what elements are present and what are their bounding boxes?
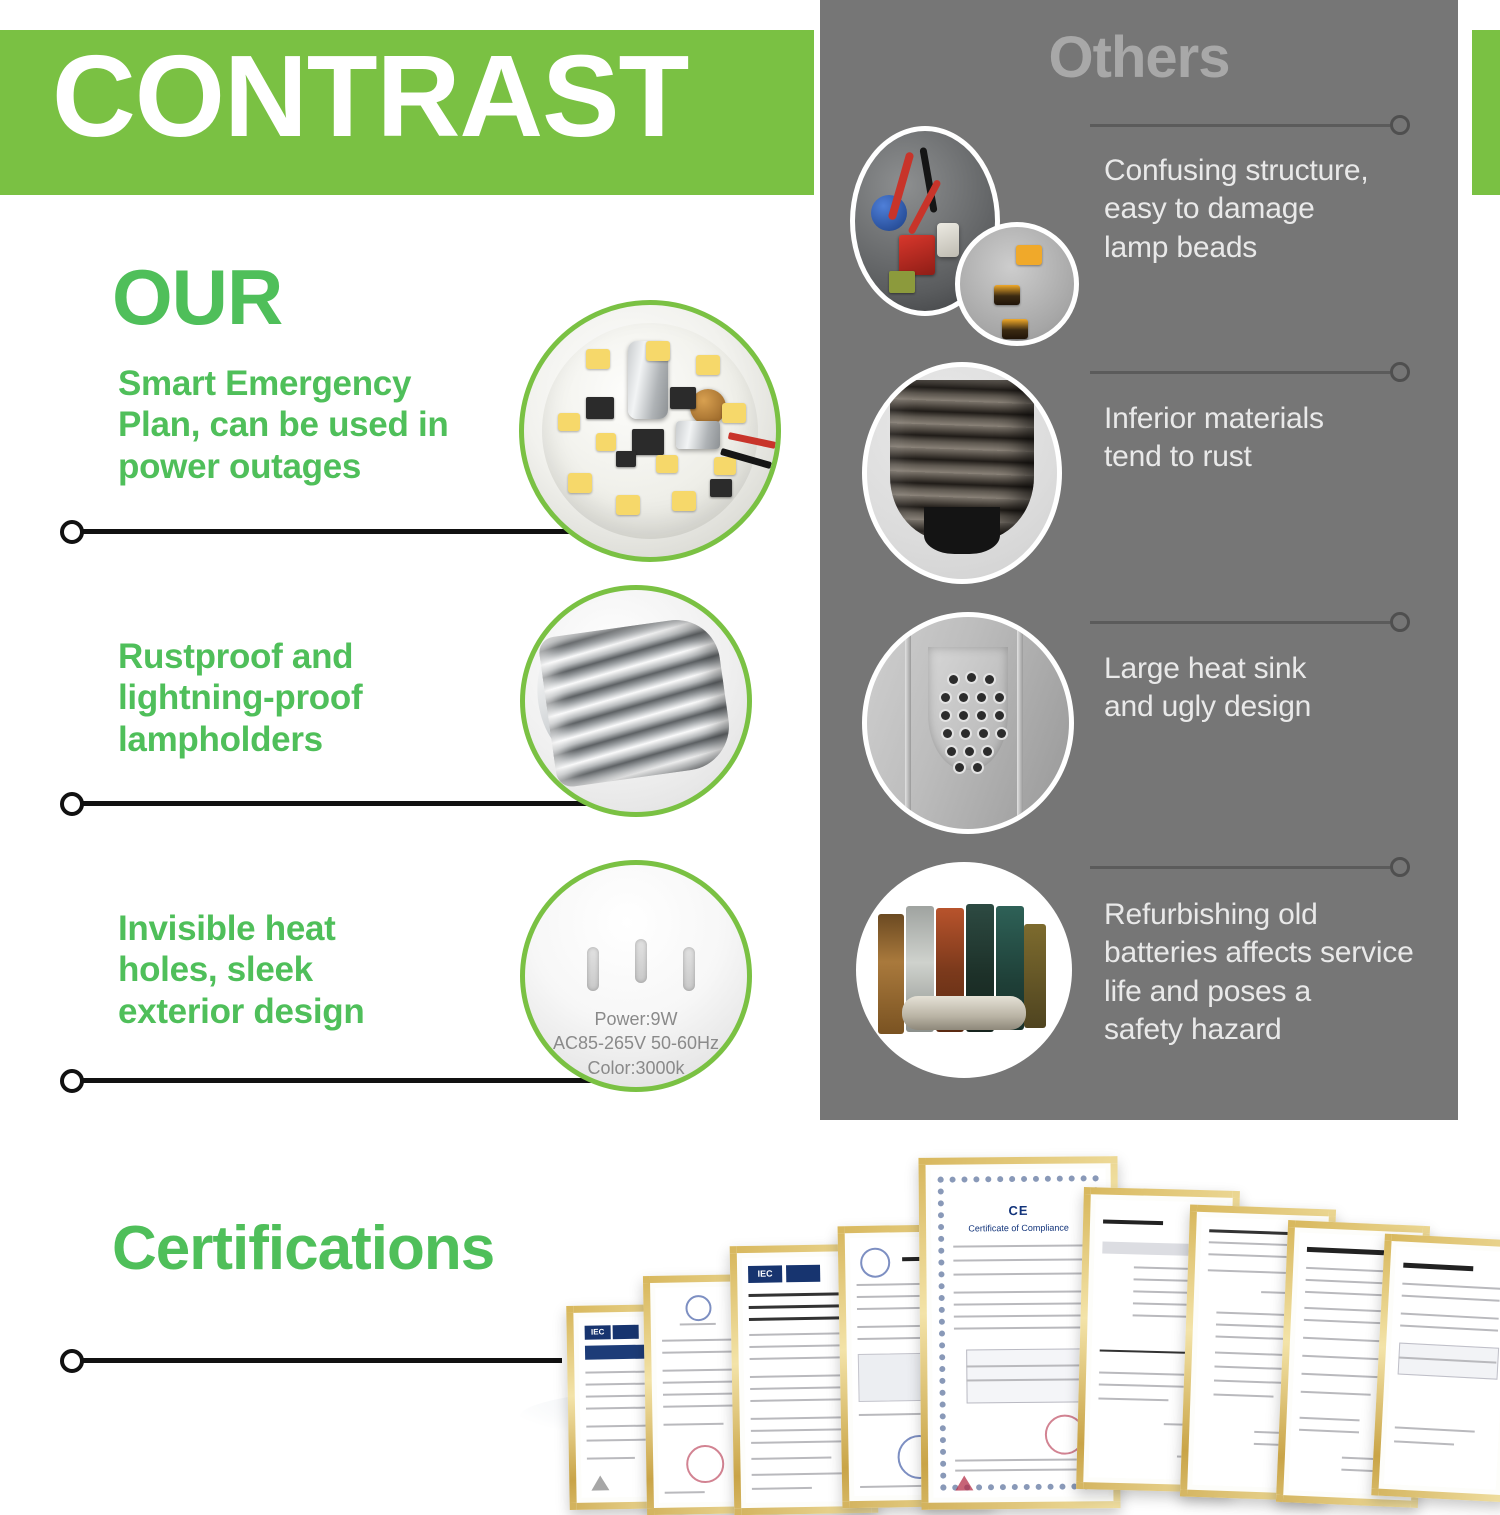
others-item-2: Inferior materials tend to rust: [1104, 400, 1444, 477]
led-bead-9: [558, 413, 580, 431]
heat-slot-2: [635, 939, 647, 983]
green-component: [889, 271, 915, 293]
feature-item-3: Invisible heat holes, sleek exterior des…: [118, 908, 518, 1032]
vent-hole: [983, 747, 992, 756]
battery-6: [1024, 924, 1046, 1028]
others-connector-3: [1090, 621, 1390, 624]
others-4-text: Refurbishing old batteries affects servi…: [1104, 896, 1454, 1050]
certifications-title: Certifications: [112, 1218, 494, 1280]
led-bead-11: [656, 455, 678, 473]
others-item-3: Large heat sink and ugly design: [1104, 650, 1444, 727]
heatsink-rib-2: [1017, 627, 1023, 827]
smd-component: [676, 421, 720, 449]
battery-1: [878, 914, 904, 1034]
rusted-base-tip: [924, 507, 1000, 554]
vent-hole: [959, 693, 968, 702]
driver-chip-1: [586, 397, 614, 419]
old-corroded-batteries-photo: [856, 862, 1072, 1078]
driver-chip-3: [670, 387, 696, 409]
others-item-1: Confusing structure, easy to damage lamp…: [1104, 152, 1444, 267]
page-title: CONTRAST: [52, 38, 688, 154]
chrome-lampholder-photo: [520, 585, 752, 817]
others-connector-dot-1: [1390, 115, 1410, 135]
others-1-text: Confusing structure, easy to damage lamp…: [1104, 152, 1444, 267]
ce-doc-title: Certificate of Compliance: [968, 1223, 1069, 1234]
ce-mark-icon: CE: [1008, 1203, 1028, 1218]
lamp-bead-1: [1016, 245, 1042, 265]
bulb-spec-text: Power:9W AC85-265V 50-60Hz Color:3000k: [525, 1007, 747, 1080]
certificates-stage: IEC: [520, 1125, 1420, 1455]
battery-laying-down: [902, 996, 1026, 1030]
connector-dot-2: [60, 792, 84, 816]
feature-item-1: Smart Emergency Plan, can be used in pow…: [118, 363, 538, 487]
vent-hole: [973, 763, 982, 772]
others-connector-dot-4: [1390, 857, 1410, 877]
others-connector-1: [1090, 124, 1390, 127]
rusted-lamp-base-photo: [862, 362, 1062, 584]
feature-2-text: Rustproof and lightning-proof lampholder…: [118, 636, 518, 760]
header-accent-bar: [1472, 30, 1500, 195]
others-connector-dot-2: [1390, 362, 1410, 382]
lamp-bead-3-burnt: [1002, 319, 1028, 339]
heat-slot-3: [683, 947, 695, 991]
white-connector: [937, 223, 959, 257]
led-bead-10: [596, 433, 616, 451]
others-connector-dot-3: [1390, 612, 1410, 632]
led-bead-4: [722, 403, 746, 423]
feature-1-text: Smart Emergency Plan, can be used in pow…: [118, 363, 538, 487]
led-bead-8: [568, 473, 592, 493]
agency-logo-icon: [860, 1247, 891, 1278]
driver-chip-2: [632, 429, 664, 455]
feature-3-text: Invisible heat holes, sleek exterior des…: [118, 908, 518, 1032]
driver-chip-4: [616, 451, 636, 467]
ait-logo-icon: [955, 1475, 973, 1490]
infographic-root: CONTRAST OUR Smart Emergency Plan, can b…: [0, 0, 1500, 1454]
connector-line-certifications: [82, 1358, 562, 1363]
iecee-logo-icon: [613, 1325, 639, 1339]
iec-logo-icon: IEC: [585, 1325, 611, 1339]
vent-hole: [995, 693, 1004, 702]
damaged-lamp-beads-photo: [955, 222, 1079, 346]
lamp-bead-2-burnt: [994, 285, 1020, 305]
vent-hole: [955, 763, 964, 772]
lampholder-threads: [538, 614, 735, 788]
led-bead-1: [586, 349, 610, 369]
iecee-logo-icon: [786, 1265, 820, 1283]
others-connector-2: [1090, 371, 1390, 374]
red-capacitor: [899, 235, 935, 275]
vent-hole: [941, 693, 950, 702]
vent-hole: [947, 747, 956, 756]
red-seal-stamp: [686, 1445, 725, 1484]
large-heat-sink-photo: [862, 612, 1074, 834]
vent-hole: [985, 675, 994, 684]
others-item-4: Refurbishing old batteries affects servi…: [1104, 896, 1454, 1050]
bulb-heat-holes-photo: Power:9W AC85-265V 50-60Hz Color:3000k: [520, 860, 752, 1092]
others-connector-4: [1090, 866, 1390, 869]
our-section-label: OUR: [112, 258, 282, 336]
connector-dot-3: [60, 1069, 84, 1093]
heatsink-rib-1: [905, 627, 911, 827]
vent-hole: [941, 711, 950, 720]
vent-hole: [979, 729, 988, 738]
vent-hole: [943, 729, 952, 738]
vent-hole: [959, 711, 968, 720]
others-2-text: Inferior materials tend to rust: [1104, 400, 1444, 477]
certificate-page: [1384, 1246, 1500, 1490]
iec-logo-icon: IEC: [748, 1265, 782, 1283]
led-bead-3: [696, 355, 720, 375]
vent-hole: [977, 693, 986, 702]
others-section-title: Others: [820, 24, 1458, 91]
connector-dot-certifications: [60, 1349, 84, 1373]
vent-hole: [949, 675, 958, 684]
led-bead-2: [646, 341, 670, 361]
feature-item-2: Rustproof and lightning-proof lampholder…: [118, 636, 518, 760]
connector-dot-1: [60, 520, 84, 544]
vent-hole: [965, 747, 974, 756]
lab-logo-icon: [685, 1295, 711, 1321]
connector-line-2: [82, 801, 642, 806]
vent-hole: [977, 711, 986, 720]
led-bead-6: [672, 491, 696, 511]
others-3-text: Large heat sink and ugly design: [1104, 650, 1444, 727]
vent-hole: [967, 673, 976, 682]
driver-chip-5: [710, 479, 732, 497]
vent-hole: [995, 711, 1004, 720]
tuv-logo-icon: [591, 1475, 609, 1490]
led-bead-7: [616, 495, 640, 515]
led-pcb-board-photo: [519, 300, 781, 562]
certificate-document: [1371, 1234, 1500, 1503]
vent-hole: [961, 729, 970, 738]
led-bead-5: [714, 457, 736, 475]
heat-slot-1: [587, 947, 599, 991]
vent-hole: [997, 729, 1006, 738]
